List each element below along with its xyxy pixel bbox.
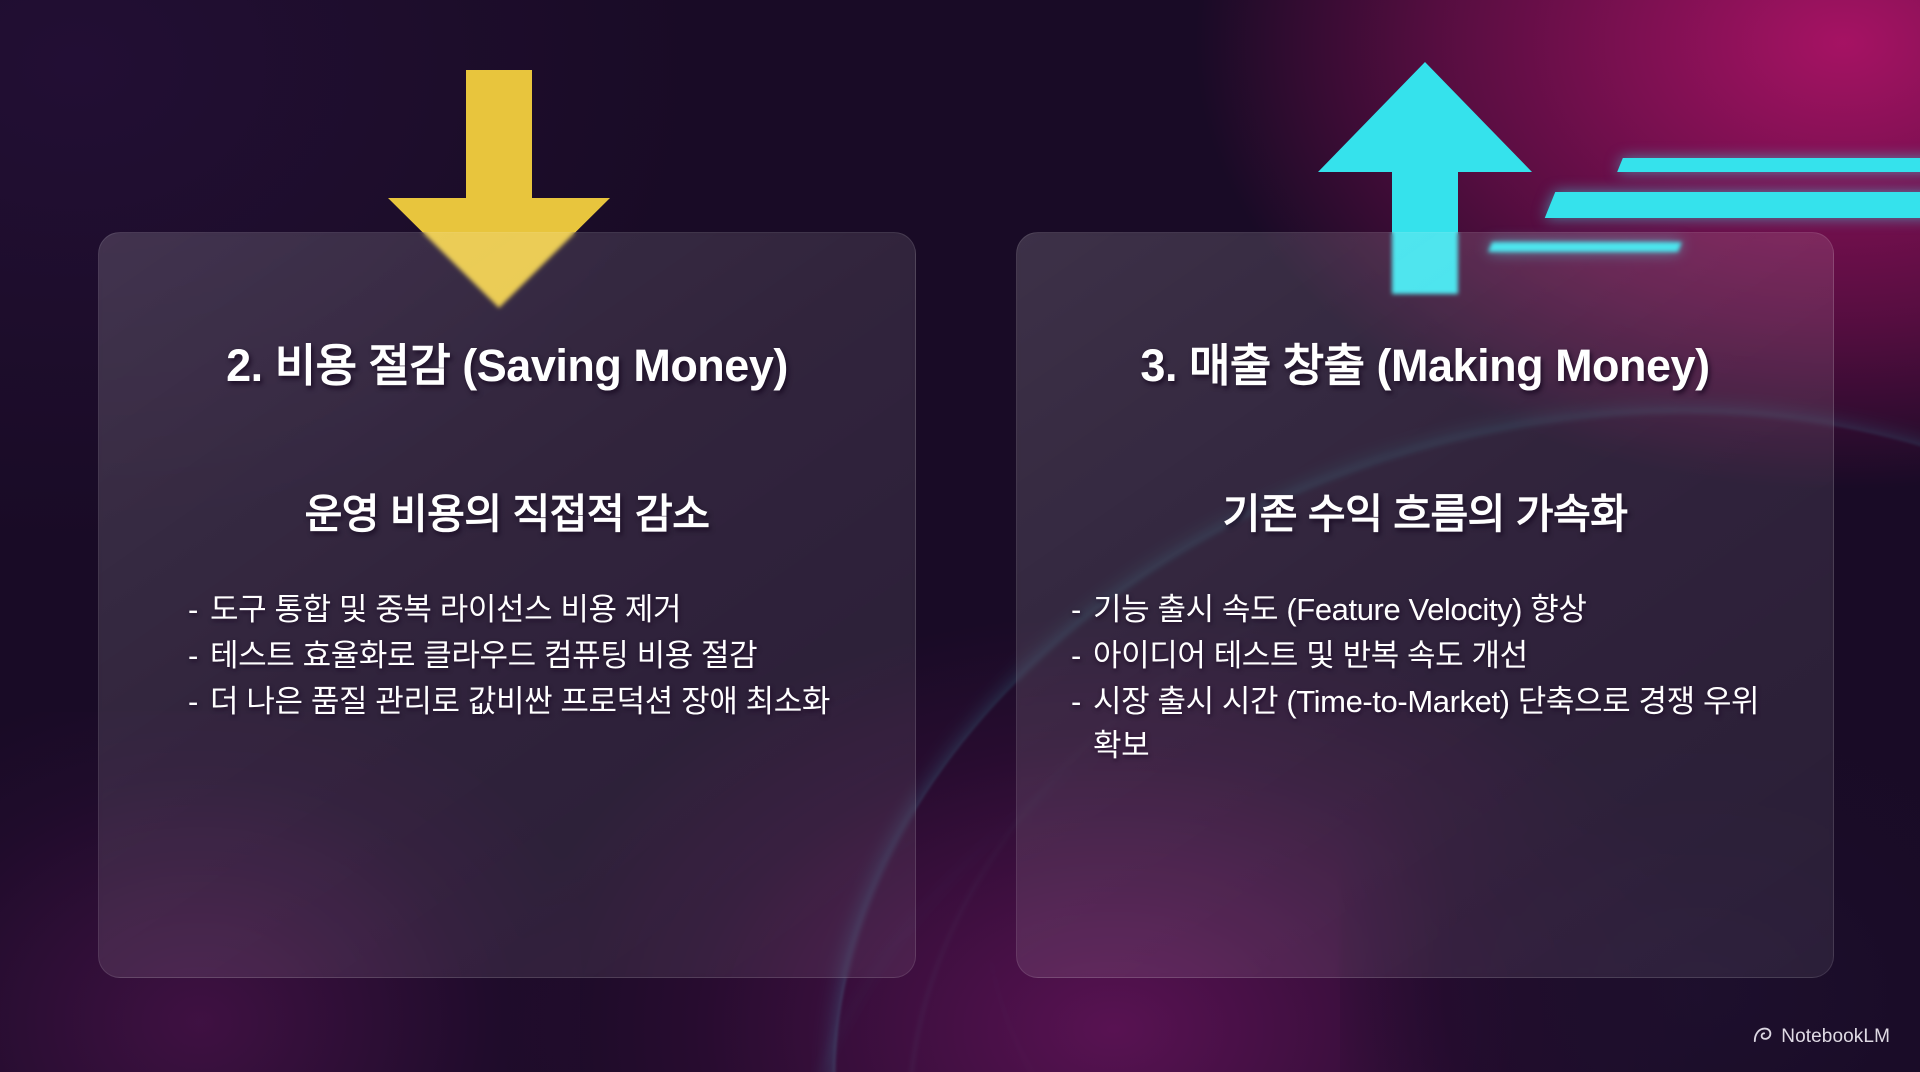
- card-subtitle: 운영 비용의 직접적 감소: [127, 480, 887, 540]
- list-item: 도구 통합 및 중복 라이선스 비용 제거: [184, 588, 830, 632]
- cards-container: 2. 비용 절감 (Saving Money) 운영 비용의 직접적 감소 도구…: [0, 0, 1920, 1072]
- card-title: 2. 비용 절감 (Saving Money): [127, 329, 887, 394]
- bullet-list: 기능 출시 속도 (Feature Velocity) 향상 아이디어 테스트 …: [1045, 588, 1805, 770]
- notebooklm-logo-icon: [1752, 1024, 1773, 1050]
- list-item: 아이디어 테스트 및 반복 속도 개선: [1067, 634, 1783, 678]
- notebooklm-label: NotebookLM: [1781, 1026, 1890, 1048]
- notebooklm-watermark: NotebookLM: [1752, 1024, 1890, 1050]
- bullet-list: 도구 통합 및 중복 라이선스 비용 제거 테스트 효율화로 클라우드 컴퓨팅 …: [162, 588, 852, 726]
- list-item: 시장 출시 시간 (Time-to-Market) 단축으로 경쟁 우위 확보: [1067, 680, 1783, 768]
- card-cost-saving: 2. 비용 절감 (Saving Money) 운영 비용의 직접적 감소 도구…: [98, 232, 916, 978]
- card-revenue-generation: 3. 매출 창출 (Making Money) 기존 수익 흐름의 가속화 기능…: [1016, 232, 1834, 978]
- list-item: 기능 출시 속도 (Feature Velocity) 향상: [1067, 588, 1783, 632]
- list-item: 더 나은 품질 관리로 값비싼 프로덕션 장애 최소화: [184, 680, 830, 724]
- slide-canvas: 2. 비용 절감 (Saving Money) 운영 비용의 직접적 감소 도구…: [0, 0, 1920, 1072]
- card-title: 3. 매출 창출 (Making Money): [1045, 329, 1805, 394]
- list-item: 테스트 효율화로 클라우드 컴퓨팅 비용 절감: [184, 634, 830, 678]
- card-subtitle: 기존 수익 흐름의 가속화: [1045, 480, 1805, 540]
